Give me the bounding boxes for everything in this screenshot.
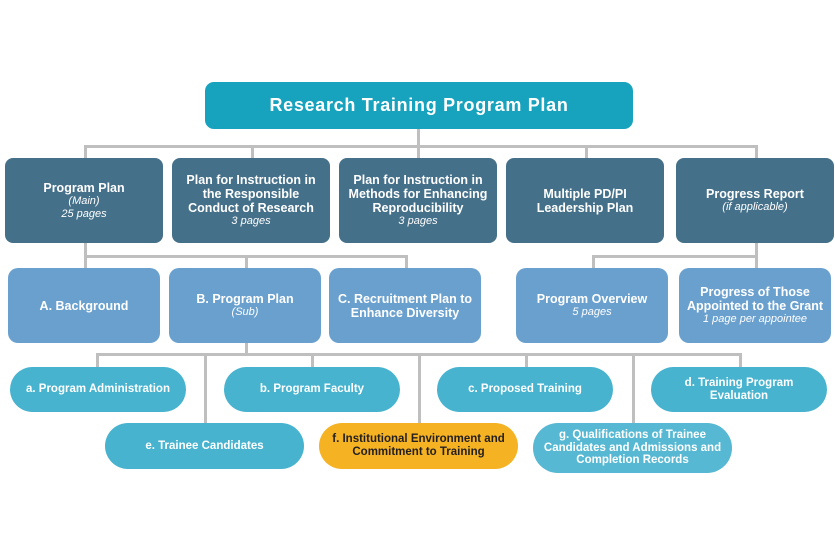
node-label: d. Training Program Evaluation xyxy=(657,377,821,403)
node-title: C. Recruitment Plan to Enhance Diversity xyxy=(335,292,475,320)
connector-drop-e-trainee-candidates xyxy=(204,353,207,423)
node-a-background[interactable]: A. Background xyxy=(8,268,160,343)
node-program-plan-main[interactable]: Program Plan (Main) 25 pages xyxy=(5,158,163,243)
connector-drop-c-recruitment xyxy=(405,255,408,268)
node-label: e. Trainee Candidates xyxy=(145,440,263,453)
node-subtitle: (Sub) xyxy=(232,306,259,318)
connector-drop-progress-appointed xyxy=(755,255,758,268)
node-title: Plan for Instruction in Methods for Enha… xyxy=(345,173,491,215)
connector-drop-responsible-conduct xyxy=(251,145,254,159)
node-multiple-pd-pi-leadership-plan[interactable]: Multiple PD/PI Leadership Plan xyxy=(506,158,664,243)
node-f-institutional-environment-and-commitment-to-training[interactable]: f. Institutional Environment and Commitm… xyxy=(319,423,518,469)
org-chart-canvas: Research Training Program Plan Program P… xyxy=(0,0,835,557)
node-research-training-program-plan[interactable]: Research Training Program Plan xyxy=(205,82,633,129)
node-title: Progress of Those Appointed to the Grant xyxy=(685,285,825,313)
connector-drop-progress-report xyxy=(755,145,758,159)
connector-drop-program-overview xyxy=(592,255,595,268)
connector-drop-a-background xyxy=(84,255,87,268)
connector-drop-c-proposed-training xyxy=(525,353,528,367)
connector-drop-b-program-plan xyxy=(245,255,248,268)
connector-drop-program-plan xyxy=(84,145,87,159)
node-c-recruitment-plan-to-enhance-diversity[interactable]: C. Recruitment Plan to Enhance Diversity xyxy=(329,268,481,343)
node-e-trainee-candidates[interactable]: e. Trainee Candidates xyxy=(105,423,304,469)
node-b-program-plan-sub[interactable]: B. Program Plan (Sub) xyxy=(169,268,321,343)
node-label: b. Program Faculty xyxy=(260,383,364,396)
node-title: Multiple PD/PI Leadership Plan xyxy=(512,187,658,215)
connector-drop-multiple-pd-pi xyxy=(585,145,588,159)
connector-drop-a-program-administration xyxy=(96,353,99,367)
node-label: Research Training Program Plan xyxy=(269,95,568,115)
node-pages: 3 pages xyxy=(398,215,437,227)
node-enhancing-reproducibility[interactable]: Plan for Instruction in Methods for Enha… xyxy=(339,158,497,243)
node-subtitle: (if applicable) xyxy=(722,201,787,213)
node-label: g. Qualifications of Trainee Candidates … xyxy=(539,429,726,468)
node-label: a. Program Administration xyxy=(26,383,170,396)
node-program-overview[interactable]: Program Overview 5 pages xyxy=(516,268,668,343)
connector-drop-d-training-evaluation xyxy=(739,353,742,367)
node-g-qualifications-of-trainee-candidates[interactable]: g. Qualifications of Trainee Candidates … xyxy=(533,423,732,473)
node-b-program-faculty[interactable]: b. Program Faculty xyxy=(224,367,400,412)
node-pages: 3 pages xyxy=(231,215,270,227)
node-responsible-conduct-of-research[interactable]: Plan for Instruction in the Responsible … xyxy=(172,158,330,243)
node-title: Program Overview xyxy=(537,292,647,306)
node-progress-report[interactable]: Progress Report (if applicable) xyxy=(676,158,834,243)
node-pages: 5 pages xyxy=(572,306,611,318)
node-title: Program Plan xyxy=(43,181,124,195)
connector-drop-f-institutional-environment xyxy=(418,353,421,423)
node-label: c. Proposed Training xyxy=(468,383,582,396)
node-c-proposed-training[interactable]: c. Proposed Training xyxy=(437,367,613,412)
connector-drop-g-qualifications xyxy=(632,353,635,423)
node-label: f. Institutional Environment and Commitm… xyxy=(325,433,512,459)
node-progress-of-those-appointed-to-the-grant[interactable]: Progress of Those Appointed to the Grant… xyxy=(679,268,831,343)
connector-level2-bus xyxy=(84,145,757,148)
node-subtitle: (Main) xyxy=(68,195,99,207)
node-title: Progress Report xyxy=(706,187,804,201)
node-a-program-administration[interactable]: a. Program Administration xyxy=(10,367,186,412)
node-pages: 25 pages xyxy=(61,208,106,220)
node-title: Plan for Instruction in the Responsible … xyxy=(178,173,324,215)
connector-drop-reproducibility xyxy=(417,145,420,159)
node-title: B. Program Plan xyxy=(196,292,293,306)
node-pages: 1 page per appointee xyxy=(703,313,807,325)
connector-level3-bus-right xyxy=(592,255,758,258)
connector-drop-b-program-faculty xyxy=(311,353,314,367)
node-title: A. Background xyxy=(40,299,129,313)
node-d-training-program-evaluation[interactable]: d. Training Program Evaluation xyxy=(651,367,827,412)
